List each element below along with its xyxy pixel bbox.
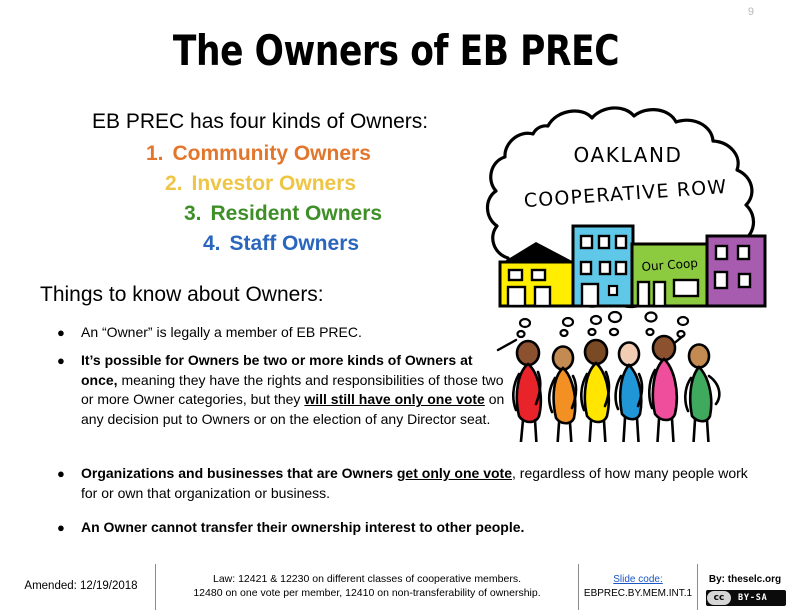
bullet-icon: ● <box>51 351 81 371</box>
person-blue <box>616 343 643 443</box>
owner-kind-resident: 3.Resident Owners <box>184 202 382 226</box>
owner-kind-community: 1.Community Owners <box>146 142 371 166</box>
footer-divider <box>697 564 698 610</box>
creative-commons-badge[interactable]: cc BY-SA <box>706 590 786 606</box>
things-to-know-heading: Things to know about Owners: <box>40 283 324 307</box>
slide-footer: Amended: 12/19/2018 Law: 12421 & 12230 o… <box>0 560 792 612</box>
footer-divider <box>155 564 156 610</box>
page-title: The Owners of EB PREC <box>71 26 720 75</box>
slide-code-block: Slide code: EBPREC.BY.MEM.INT.1 <box>580 573 696 601</box>
blue-building <box>573 226 633 306</box>
list-item: ● An Owner cannot transfer their ownersh… <box>51 518 751 538</box>
owner-kind-number: 4. <box>203 232 221 255</box>
page-number: 9 <box>748 6 754 18</box>
slide-code-link[interactable]: Slide code: <box>580 573 696 587</box>
intro-line: EB PREC has four kinds of Owners: <box>92 110 428 134</box>
list-item: ● An “Owner” is legally a member of EB P… <box>51 323 481 343</box>
person-orange <box>549 347 577 443</box>
oakland-cooperative-row-illustration: OAKLAND COOPERATIVE ROW <box>478 104 784 442</box>
owner-kind-number: 3. <box>184 202 202 225</box>
slide-canvas: 9 The Owners of EB PREC EB PREC has four… <box>0 0 792 612</box>
bullet-text: An Owner cannot transfer their ownership… <box>81 518 751 538</box>
cc-license-text: BY-SA <box>738 593 768 603</box>
owner-kind-investor: 2.Investor Owners <box>165 172 356 196</box>
bullet-icon: ● <box>51 323 81 343</box>
owner-kind-label: Investor Owners <box>192 172 357 195</box>
person-pink <box>649 336 683 442</box>
owner-kind-label: Staff Owners <box>230 232 360 255</box>
attribution-label: By: theselc.org <box>700 574 790 585</box>
purple-building <box>707 236 765 306</box>
owner-kind-label: Resident Owners <box>211 202 383 225</box>
slide-code-value: EBPREC.BY.MEM.INT.1 <box>580 587 696 601</box>
bullet-text: It’s possible for Owners be two or more … <box>81 351 511 429</box>
list-item: ● Organizations and businesses that are … <box>51 464 751 503</box>
owner-kind-label: Community Owners <box>173 142 371 165</box>
owner-kind-staff: 4.Staff Owners <box>203 232 359 256</box>
owner-kind-number: 2. <box>165 172 183 195</box>
bullet-text: Organizations and businesses that are Ow… <box>81 464 751 503</box>
cc-icon: cc <box>707 591 731 605</box>
list-item: ● It’s possible for Owners be two or mor… <box>51 351 511 429</box>
law-citation: Law: 12421 & 12230 on different classes … <box>158 573 576 600</box>
person-red <box>498 340 543 442</box>
thought-bubbles <box>518 312 689 337</box>
person-yellow <box>581 340 610 442</box>
law-line-2: 12480 on one vote per member, 12410 on n… <box>158 587 576 601</box>
law-line-1: Law: 12421 & 12230 on different classes … <box>158 573 576 587</box>
people-group <box>498 336 719 442</box>
amended-date: Amended: 12/19/2018 <box>14 580 148 592</box>
bullet-text: An “Owner” is legally a member of EB PRE… <box>81 323 481 343</box>
footer-divider <box>578 564 579 610</box>
cloud-line-1: OAKLAND <box>573 143 682 167</box>
person-green <box>685 345 719 443</box>
bullet-icon: ● <box>51 518 81 538</box>
owner-kind-number: 1. <box>146 142 164 165</box>
green-building: Our Coop <box>632 244 708 306</box>
bullet-icon: ● <box>51 464 81 484</box>
